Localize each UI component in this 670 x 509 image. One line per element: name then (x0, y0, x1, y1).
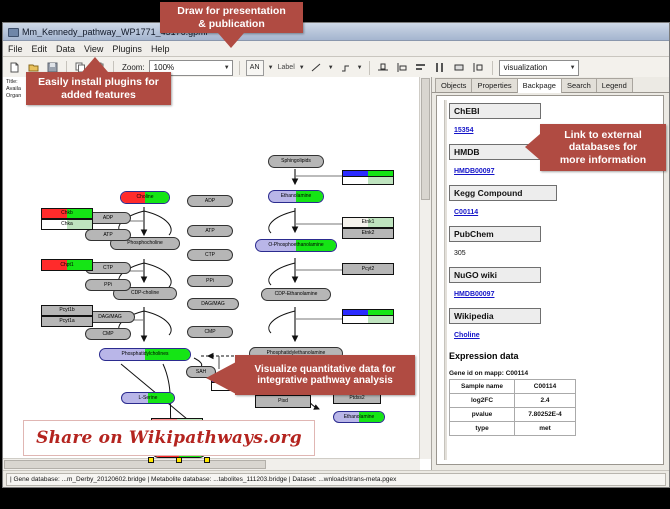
node-label: O-Phosphoethanolamine (268, 243, 323, 248)
toolbar-separator-3 (239, 61, 240, 75)
node-label: CMP (204, 330, 215, 335)
node-label: ADP (205, 199, 215, 204)
node-ethanolamine-right[interactable]: Ethanolamine (333, 411, 385, 423)
callout-plugins-line2: added features (61, 89, 136, 101)
label-tool-label[interactable]: Label (278, 64, 295, 71)
node-label: CTP (103, 266, 113, 271)
node-cdp-ethanolamine[interactable]: CDP-Ethanolamine (261, 288, 331, 301)
distribute-v-icon[interactable] (414, 60, 429, 75)
node-label: Pcyt1a (59, 319, 74, 324)
menu-item-edit[interactable]: Edit (32, 44, 48, 54)
node-label: Sphingolipids (281, 159, 311, 164)
pathway-drawing[interactable]: Title: Availa Organ (3, 77, 431, 470)
toolbar-separator-5 (492, 61, 493, 75)
node-label: L-Serine (139, 396, 158, 401)
callout-link-arrow-icon (525, 134, 540, 160)
node-chka[interactable]: Chka (41, 219, 93, 230)
node-label: Choline (137, 195, 154, 200)
node-label: Phosphocholine (127, 241, 163, 246)
ungroup-icon[interactable] (471, 60, 486, 75)
node-l-serine-left[interactable]: L-Serine (121, 392, 175, 404)
value-pubchem: 305 (454, 250, 466, 257)
node-label: ADP (103, 216, 113, 221)
menu-item-file[interactable]: File (8, 44, 23, 54)
link-chebi[interactable]: 15354 (454, 127, 473, 134)
node-cmp-right[interactable]: CMP (187, 326, 233, 338)
connector-tool-chevron-icon[interactable]: ▼ (357, 65, 363, 71)
line-tool-icon[interactable] (309, 60, 324, 75)
node-atp-right[interactable]: ATP (187, 225, 233, 237)
app-icon (7, 26, 18, 37)
node-sgpl1[interactable]: Sgpl1 (342, 177, 394, 185)
node-dag-mag-right[interactable]: DAG/MAG (187, 298, 239, 310)
new-icon[interactable] (7, 60, 22, 75)
table-row: pvalue 7.80252E-4 (450, 408, 576, 422)
table-cell-key: log2FC (450, 394, 515, 408)
title-bar[interactable]: Mm_Kennedy_pathway_WP1771_45176.gpml (3, 23, 669, 41)
callout-draw: Draw for presentation & publication (160, 2, 303, 33)
link-nugo-wiki[interactable]: HMDB00097 (454, 291, 494, 298)
node-pisd[interactable]: Pisd (255, 395, 311, 408)
table-row: Sample name C00114 (450, 380, 576, 394)
section-header-wikipedia: Wikipedia (449, 308, 541, 324)
tab-search[interactable]: Search (561, 78, 597, 92)
node-label: Etnk1 (362, 220, 375, 225)
node-phosphatidylcholines[interactable]: Phosphatidylcholines (99, 348, 191, 361)
node-label: CMP (102, 332, 113, 337)
zoom-value: 100% (154, 63, 174, 72)
table-cell-value: 2.4 (515, 394, 576, 408)
group-icon[interactable] (452, 60, 467, 75)
vertical-scrollbar-thumb[interactable] (421, 78, 430, 200)
visualization-value: visualization (504, 63, 548, 72)
status-text: | Gene database: ...m_Derby_20120602.bri… (6, 473, 666, 486)
canvas-horizontal-scrollbar[interactable] (3, 458, 420, 470)
node-label: Ptdss2 (349, 396, 364, 401)
align-left-icon[interactable] (395, 60, 410, 75)
node-cept1[interactable]: Cept1 (342, 316, 394, 324)
gene-id-line: Gene id on mapp: C00114 (449, 370, 660, 377)
backpage-scrollbar[interactable] (444, 100, 447, 460)
section-header-chebi: ChEBI (449, 103, 541, 119)
node-label: Ethanolamine (344, 415, 375, 420)
node-ethanolamine[interactable]: Ethanolamine (268, 190, 324, 203)
line-tool-chevron-icon[interactable]: ▼ (328, 65, 334, 71)
node-label: ATP (205, 229, 214, 234)
table-row: log2FC 2.4 (450, 394, 576, 408)
node-o-phosphoethanolamine[interactable]: O-Phosphoethanolamine (255, 239, 337, 252)
node-label: Ethanolamine (281, 194, 312, 199)
node-label: PPi (104, 283, 112, 288)
callout-visualize-arrow-icon (206, 362, 236, 394)
zoom-label: Zoom: (122, 63, 145, 72)
menu-item-plugins[interactable]: Plugins (112, 44, 142, 54)
callout-link-line3: more information (560, 154, 646, 166)
callout-plugins-arrow-icon (82, 57, 108, 72)
section-header-nugo-wiki: NuGO wiki (449, 267, 541, 283)
node-label: Pcyt2 (362, 267, 375, 272)
link-hmdb[interactable]: HMDB00097 (454, 168, 494, 175)
tab-properties[interactable]: Properties (471, 78, 517, 92)
pathway-canvas[interactable]: Title: Availa Organ (3, 77, 432, 470)
node-label: Chka (61, 222, 73, 227)
align-top-icon[interactable] (376, 60, 391, 75)
menu-bar[interactable]: File Edit Data View Plugins Help (3, 41, 669, 57)
callout-draw-line2: & publication (198, 18, 265, 30)
node-label: Pcyt1b (59, 308, 74, 313)
section-header-kegg-compound: Kegg Compound (449, 185, 557, 201)
chevron-down-icon: ▼ (224, 65, 230, 71)
toolbar-separator-4 (369, 61, 370, 75)
node-chpt1[interactable]: Chpt1 (41, 259, 93, 271)
node-label: DAG/MAG (201, 302, 225, 307)
text-tool-chevron-icon[interactable]: ▼ (268, 65, 274, 71)
node-label: SAH (196, 370, 206, 375)
table-cell-key: Sample name (450, 380, 515, 394)
callout-share: Share on Wikipathways.org (23, 420, 315, 456)
node-sphingolipids[interactable]: Sphingolipids (268, 155, 324, 168)
tab-legend[interactable]: Legend (596, 78, 633, 92)
expression-data-heading: Expression data (449, 351, 660, 361)
table-cell-value: 7.80252E-4 (515, 408, 576, 422)
node-label: Pisd (278, 399, 288, 404)
side-panel-tabs[interactable]: Objects Properties Backpage Search Legen… (432, 77, 669, 93)
callout-visualize-line2: integrative pathway analysis (257, 375, 393, 387)
callout-link-databases: Link to external databases for more info… (540, 124, 666, 171)
node-adp-right[interactable]: ADP (187, 195, 233, 207)
menu-item-data[interactable]: Data (56, 44, 75, 54)
menu-item-view[interactable]: View (84, 44, 103, 54)
callout-visualize-line1: Visualize quantitative data for (255, 364, 396, 376)
status-bar: | Gene database: ...m_Derby_20120602.bri… (3, 470, 669, 487)
node-etnk1[interactable]: Etnk1 (342, 217, 394, 228)
link-wikipedia[interactable]: Choline (454, 332, 480, 339)
text-tool-icon[interactable]: AN (246, 60, 264, 76)
node-label: CDP-choline (131, 291, 159, 296)
node-label: Phosphatidylcholines (122, 352, 169, 357)
callout-link-line1: Link to external (564, 129, 642, 141)
selection-handle-sw[interactable] (148, 457, 154, 463)
callout-draw-line1: Draw for presentation (177, 5, 286, 17)
visualization-combobox[interactable]: visualization ▼ (499, 60, 579, 76)
canvas-vertical-scrollbar[interactable] (419, 77, 431, 459)
expression-table: Sample name C00114 log2FC 2.4 pvalue 7.8… (449, 379, 576, 436)
horizontal-scrollbar-thumb[interactable] (4, 460, 266, 469)
callout-plugins: Easily install plugins for added feature… (26, 72, 171, 105)
callout-visualize: Visualize quantitative data for integrat… (235, 355, 415, 395)
table-cell-key: type (450, 422, 515, 436)
callout-plugins-line1: Easily install plugins for (38, 76, 159, 88)
link-kegg-compound[interactable]: C00114 (454, 209, 478, 216)
node-pcyt1b[interactable]: Pcyt1b (41, 305, 93, 316)
tab-objects[interactable]: Objects (435, 78, 472, 92)
section-header-pubchem: PubChem (449, 226, 541, 242)
table-cell-value: met (515, 422, 576, 436)
node-label: Chkb (61, 211, 73, 216)
tab-backpage[interactable]: Backpage (517, 78, 562, 93)
selection-handle-se[interactable] (204, 457, 210, 463)
node-ppi-right[interactable]: PPi (187, 275, 233, 287)
node-label: Etnk2 (362, 231, 375, 236)
callout-link-line2: databases for (569, 141, 637, 153)
menu-item-help[interactable]: Help (151, 44, 170, 54)
node-label: CDP-Ethanolamine (275, 292, 318, 297)
node-etnk2[interactable]: Etnk2 (342, 228, 394, 239)
screenshot-root: Mm_Kennedy_pathway_WP1771_45176.gpml Fil… (0, 0, 670, 509)
node-sgpl1-top[interactable] (342, 170, 394, 177)
node-ppi[interactable]: PPi (85, 279, 131, 291)
node-ctp-right[interactable]: CTP (187, 249, 233, 261)
node-choline-top[interactable]: Choline (120, 191, 170, 204)
label-tool-chevron-icon[interactable]: ▼ (299, 65, 305, 71)
node-label: ATP (103, 233, 112, 238)
node-label: DAG/MAG (98, 315, 122, 320)
node-cept1-top[interactable] (342, 309, 394, 316)
distribute-h-icon[interactable] (433, 60, 448, 75)
node-pcyt2[interactable]: Pcyt2 (342, 263, 394, 275)
table-cell-key: pvalue (450, 408, 515, 422)
node-label: PPi (206, 279, 214, 284)
selection-handle-s[interactable] (176, 457, 182, 463)
table-cell-value: C00114 (515, 380, 576, 394)
node-atp[interactable]: ATP (85, 229, 131, 241)
connector-tool-icon[interactable] (338, 60, 353, 75)
node-label: CTP (205, 253, 215, 258)
node-pcyt1a[interactable]: Pcyt1a (41, 316, 93, 327)
node-label: Chpt1 (60, 263, 73, 268)
node-chkb[interactable]: Chkb (41, 208, 93, 219)
table-row: type met (450, 422, 576, 436)
callout-draw-arrow-icon (218, 33, 244, 48)
visualization-chevron-down-icon: ▼ (570, 65, 576, 71)
node-cmp[interactable]: CMP (85, 328, 131, 340)
